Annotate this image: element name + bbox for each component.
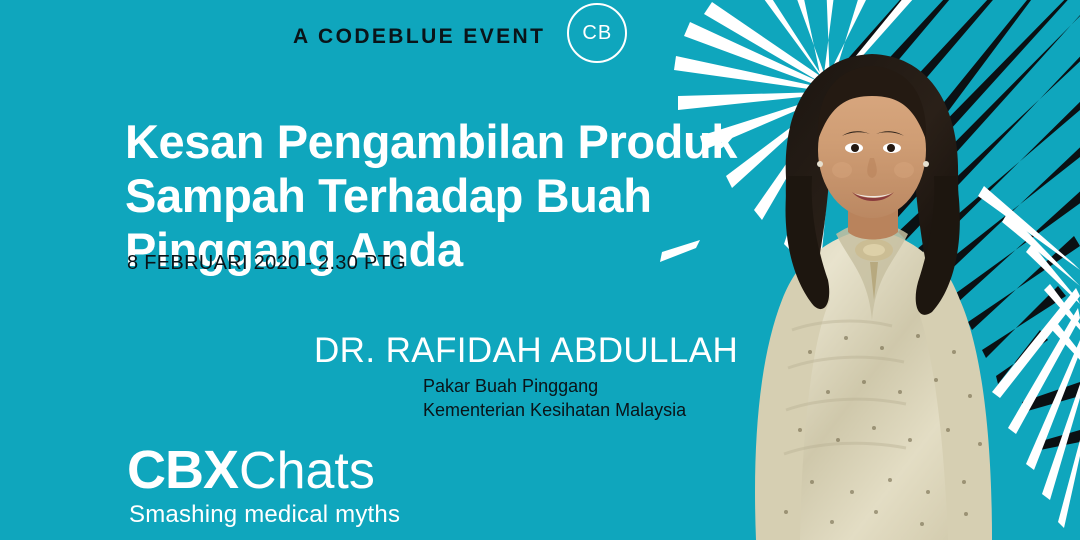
- cbx-chats-wordmark: CBX Chats: [127, 443, 400, 497]
- logo-chats-text: Chats: [239, 445, 375, 497]
- palm-frond-white-right: [978, 186, 1080, 528]
- codeblue-circle-logo-icon: CB: [567, 3, 627, 63]
- event-datetime: 8 FEBRUARI 2020 - 2.30 PTG: [127, 253, 406, 273]
- event-banner: A CODEBLUE EVENT CB Kesan Pengambilan Pr…: [0, 0, 1080, 540]
- event-eyebrow-row: A CODEBLUE EVENT CB: [293, 18, 627, 54]
- speaker-organisation: Kementerian Kesihatan Malaysia: [423, 399, 686, 423]
- codeblue-badge-label: CB: [582, 23, 612, 43]
- speaker-role: Pakar Buah Pinggang: [423, 375, 686, 399]
- speaker-credentials: Pakar Buah Pinggang Kementerian Kesihata…: [423, 375, 686, 423]
- palm-frond-dark: [806, 0, 1080, 450]
- event-title-line-1: Kesan Pengambilan Produk: [125, 115, 825, 169]
- logo-tagline: Smashing medical myths: [129, 503, 400, 527]
- speaker-name: DR. RAFIDAH ABDULLAH: [314, 333, 738, 368]
- eyebrow-label: A CODEBLUE EVENT: [293, 26, 545, 47]
- cbx-chats-logo: CBX Chats Smashing medical myths: [127, 443, 400, 527]
- event-title-line-2: Sampah Terhadap Buah: [125, 169, 825, 223]
- logo-cbx-text: CBX: [127, 443, 238, 497]
